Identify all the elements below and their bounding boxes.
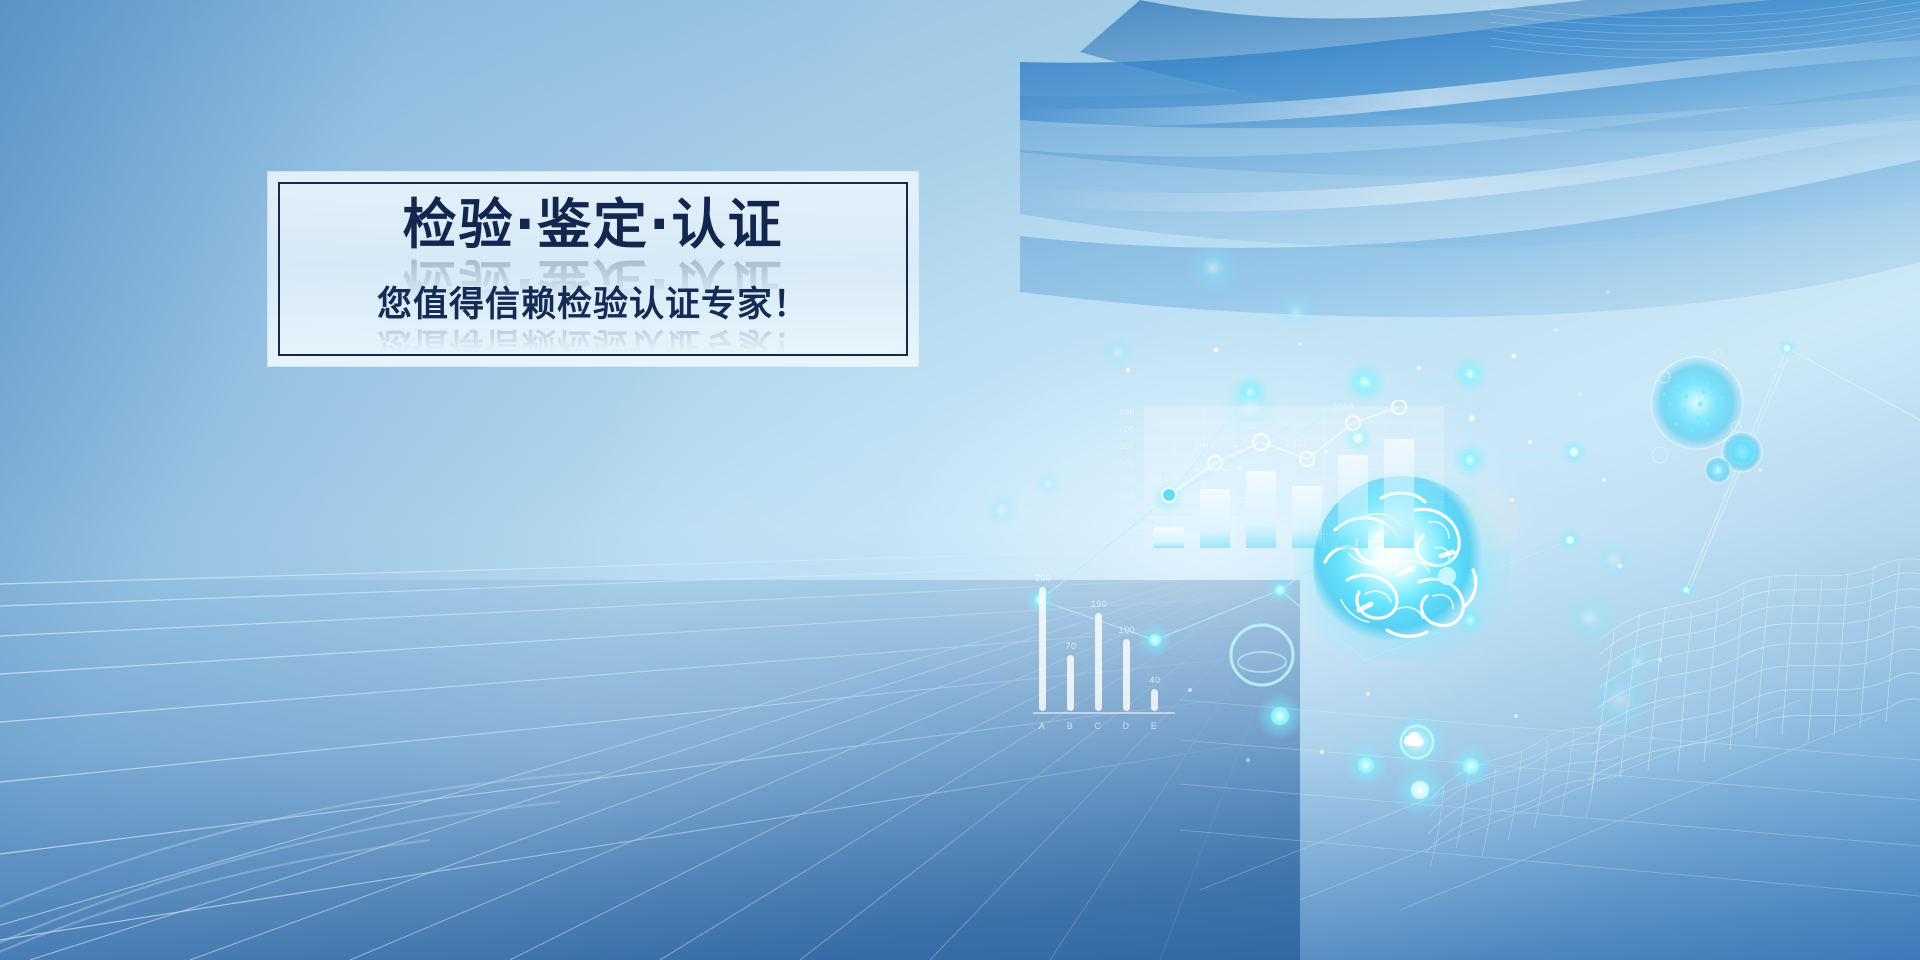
- torus-ring: [1231, 625, 1293, 685]
- ytick-200: 200: [1120, 509, 1135, 519]
- page-subtitle: 您值得信赖检验认证专家！: [280, 288, 906, 323]
- bar-cat-b: B: [1067, 721, 1074, 731]
- ytick-500: 500: [1120, 458, 1135, 468]
- molecule-spheres: [1651, 349, 1762, 483]
- node-network-graphic: [0, 0, 1920, 960]
- point-label-2015: 2015: [1194, 442, 1216, 452]
- page-subtitle-reflection: 您值得信赖检验认证专家！: [280, 326, 906, 361]
- point-label-2018: 2018: [1332, 402, 1354, 412]
- ytick-700: 700: [1120, 424, 1135, 434]
- point-label-2017: 2017: [1286, 438, 1308, 448]
- ytick-800: 800: [1120, 407, 1135, 417]
- bar-cat-a: A: [1039, 721, 1046, 731]
- bar-cat-e: E: [1151, 721, 1158, 731]
- bar-value-e: 40: [1149, 675, 1160, 685]
- wireframe-terrain-secondary: [1426, 722, 1622, 866]
- ytick-400: 400: [1120, 475, 1135, 485]
- bar-cat-d: D: [1123, 721, 1130, 731]
- headline-panel: 检验·鉴定·认证 检验·鉴定·认证 您值得信赖检验认证专家！ 您值得信赖检验认证…: [268, 172, 918, 366]
- bar-value-a: 250: [1035, 573, 1052, 583]
- bar-category-labels: A B C D E: [1039, 721, 1158, 731]
- ytick-100: 100: [1120, 526, 1135, 536]
- bar-value-d: 100: [1119, 625, 1136, 635]
- ytick-600: 600: [1120, 441, 1135, 451]
- bar-value-c: 190: [1091, 599, 1108, 609]
- point-label-2016: 2016: [1240, 421, 1262, 431]
- bar-cat-c: C: [1095, 721, 1102, 731]
- ytick-0: 0: [1129, 543, 1135, 553]
- bar-value-b: 70: [1065, 641, 1076, 651]
- y-axis-ticks: 0 100 200 300 400 500 600 700 800: [1120, 407, 1144, 553]
- category-bars-chart: 250 70 190 100 40 A B C D E: [1025, 565, 1205, 735]
- point-label-2014: 2014: [1147, 474, 1169, 484]
- page-title: 检验·鉴定·认证: [280, 198, 906, 252]
- headline-border: 检验·鉴定·认证 检验·鉴定·认证 您值得信赖检验认证专家！ 您值得信赖检验认证…: [278, 182, 908, 356]
- growth-trend-chart: 0 100 200 300 400 500 600 700 800: [1120, 400, 1450, 580]
- banner-root: 0 100 200 300 400 500 600 700 800: [0, 0, 1920, 960]
- ytick-300: 300: [1120, 492, 1135, 502]
